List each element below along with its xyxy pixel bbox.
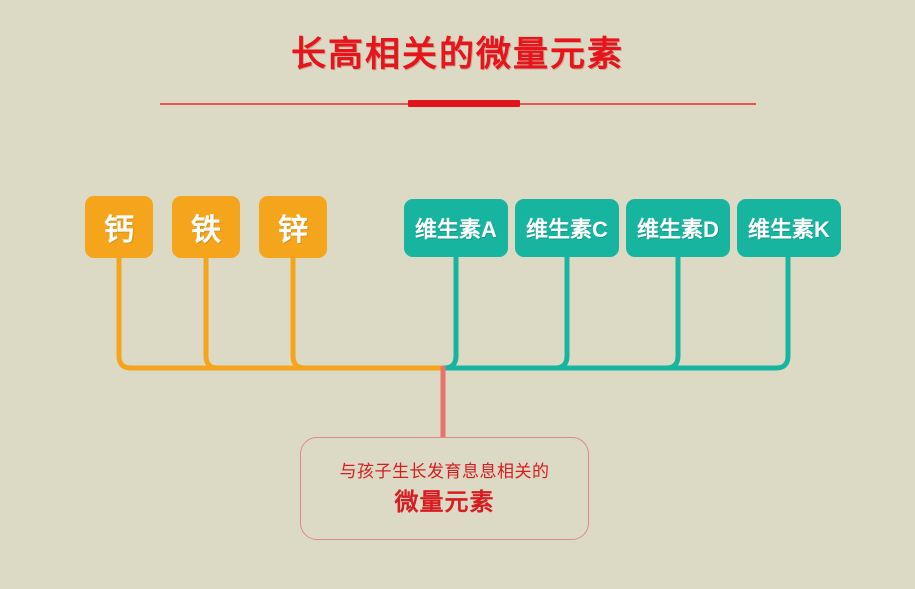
- infographic-canvas: 长高相关的微量元素 钙 铁 锌 维生素A 维生素C: [0, 0, 915, 589]
- wire-mineral-1: [119, 258, 443, 368]
- node-label: 铁: [191, 205, 221, 249]
- wire-vitamin-4: [443, 257, 788, 368]
- summary-line-1: 与孩子生长发育息息相关的: [340, 459, 550, 485]
- wire-mineral-3: [293, 258, 443, 368]
- node-vitamin-d[interactable]: 维生素D: [626, 199, 730, 257]
- node-mineral-iron[interactable]: 铁: [172, 196, 240, 258]
- node-label: 钙: [104, 205, 134, 249]
- node-label: 维生素K: [748, 212, 830, 244]
- wire-mineral-2: [206, 258, 443, 368]
- summary-line-2: 微量元素: [395, 487, 495, 519]
- node-vitamin-c[interactable]: 维生素C: [515, 199, 619, 257]
- wire-vitamin-2: [443, 257, 567, 368]
- node-label: 维生素A: [415, 212, 497, 244]
- node-mineral-calcium[interactable]: 钙: [85, 196, 153, 258]
- summary-box: 与孩子生长发育息息相关的 微量元素: [300, 437, 589, 540]
- wire-vitamin-3: [443, 257, 678, 368]
- wire-vitamin-1: [443, 257, 456, 368]
- node-mineral-zinc[interactable]: 锌: [259, 196, 327, 258]
- node-vitamin-a[interactable]: 维生素A: [404, 199, 508, 257]
- node-vitamin-k[interactable]: 维生素K: [737, 199, 841, 257]
- node-label: 维生素D: [637, 212, 719, 244]
- node-label: 维生素C: [526, 212, 608, 244]
- node-label: 锌: [278, 205, 308, 249]
